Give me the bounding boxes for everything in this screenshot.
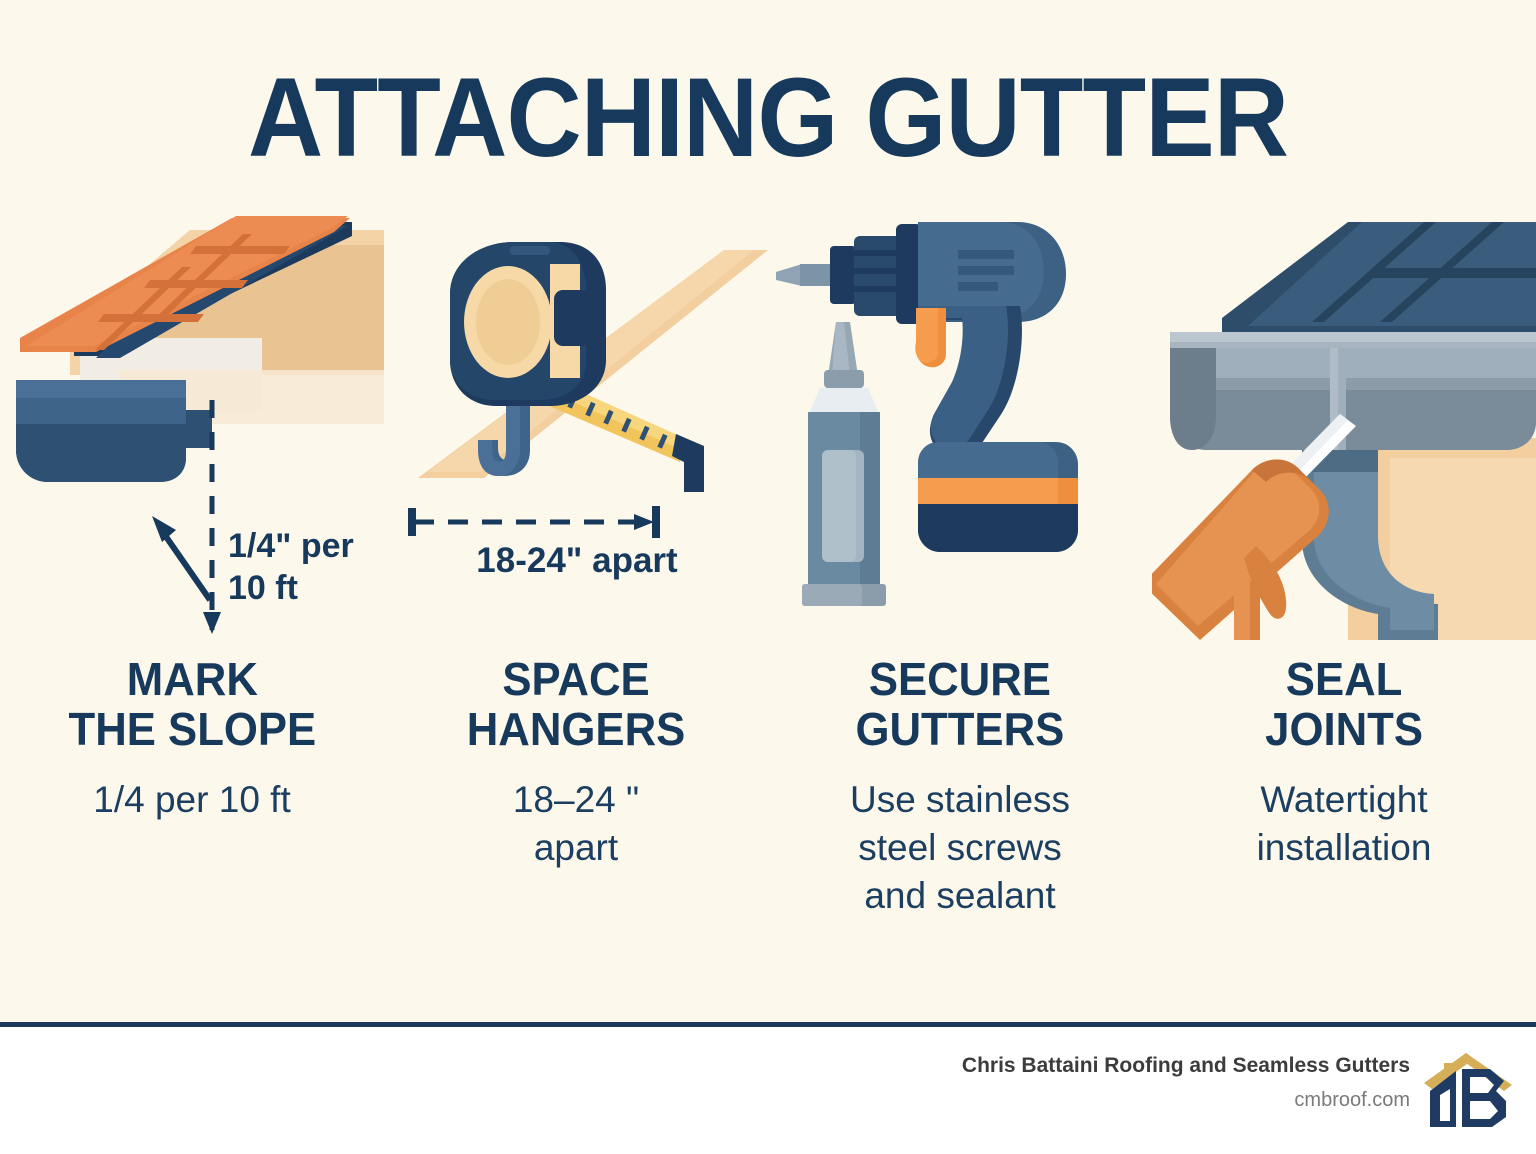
heading-line2: JOINTS (1265, 704, 1423, 754)
step-heading-space-hangers: SPACE HANGERS (467, 654, 686, 754)
caption-line2: apart (513, 824, 639, 872)
website-url[interactable]: cmbroof.com (962, 1085, 1410, 1115)
heading-line2: GUTTERS (856, 704, 1065, 754)
slope-annotation: 1/4" per 10 ft (228, 525, 378, 609)
caption-line1: 18–24 " (513, 776, 639, 824)
step-caption-seal-joints: Watertight installation (1257, 776, 1432, 872)
caption-line1: Use stainless (850, 776, 1070, 824)
caption-line1: Watertight (1257, 776, 1432, 824)
illustration-caulk-gun-sealing-downspout (1152, 210, 1536, 640)
step-card-mark-the-slope: 1/4" per 10 ft MARK THE SLOPE 1/4 per 10… (0, 210, 384, 970)
hanger-spacing-annotation: 18-24" apart (402, 540, 752, 582)
cb-house-logo (1422, 1049, 1514, 1133)
step-caption-space-hangers: 18–24 " apart (513, 776, 639, 872)
step-card-seal-joints: SEAL JOINTS Watertight installation (1152, 210, 1536, 970)
step-heading-secure-gutters: SECURE GUTTERS (856, 654, 1065, 754)
footer: Chris Battaini Roofing and Seamless Gutt… (0, 1027, 1536, 1154)
caption-line2: installation (1257, 824, 1432, 872)
step-caption-secure-gutters: Use stainless steel screws and sealant (850, 776, 1070, 920)
footer-text-block: Chris Battaini Roofing and Seamless Gutt… (962, 1051, 1410, 1115)
caption-line2: steel screws (850, 824, 1070, 872)
steps-row: 1/4" per 10 ft MARK THE SLOPE 1/4 per 10… (0, 210, 1536, 970)
step-heading-seal-joints: SEAL JOINTS (1265, 654, 1423, 754)
heading-line2: THE SLOPE (68, 704, 316, 754)
step-caption-mark-the-slope: 1/4 per 10 ft (93, 776, 290, 824)
illustration-roof-edge-with-gutter: 1/4" per 10 ft (0, 210, 384, 640)
step-card-secure-gutters: SECURE GUTTERS Use stainless steel screw… (768, 210, 1152, 970)
heading-line1: SECURE (856, 654, 1065, 704)
heading-line2: HANGERS (467, 704, 686, 754)
heading-line1: MARK (68, 654, 316, 704)
step-heading-mark-the-slope: MARK THE SLOPE (68, 654, 316, 754)
slope-annotation-line1: 1/4" per (228, 525, 378, 567)
heading-line1: SPACE (467, 654, 686, 704)
caption-line3: and sealant (850, 872, 1070, 920)
illustration-tape-measure-and-hanger: 18-24" apart (384, 210, 768, 640)
infographic-poster: ATTACHING GUTTER (0, 0, 1536, 1154)
slope-annotation-line2: 10 ft (228, 567, 378, 609)
brand-name: Chris Battaini Roofing and Seamless Gutt… (962, 1051, 1410, 1081)
page-title: ATTACHING GUTTER (54, 62, 1482, 174)
illustration-cordless-drill-and-sealant-tube (768, 210, 1152, 640)
step-card-space-hangers: 18-24" apart SPACE HANGERS 18–24 " apart (384, 210, 768, 970)
heading-line1: SEAL (1265, 654, 1423, 704)
